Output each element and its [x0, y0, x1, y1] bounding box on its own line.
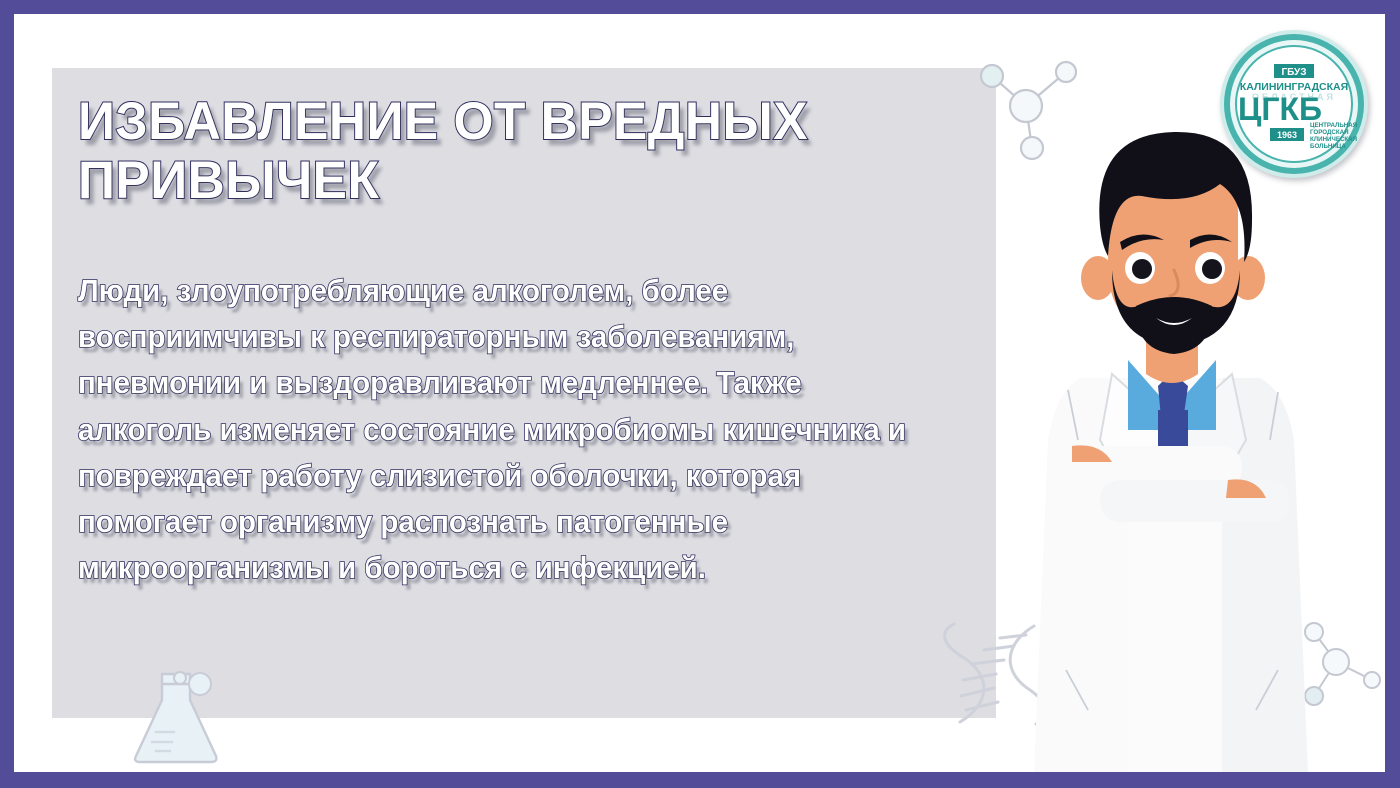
poster-slide: ОБЛАСТНАЯ ГБУЗ КАЛИНИНГРАДСКАЯ ЦГКБ 1963…	[0, 0, 1400, 788]
logo-expansion-4: БОЛЬНИЦА	[1310, 143, 1346, 150]
logo-gbuz: ГБУЗ	[1281, 67, 1306, 78]
logo-expansion-1: ЦЕНТРАЛЬНАЯ	[1310, 122, 1358, 129]
logo-year: 1963	[1277, 130, 1297, 140]
logo-expansion-2: ГОРОДСКАЯ	[1310, 129, 1349, 136]
body-paragraph: Люди, злоупотребляющие алкоголем, более …	[78, 268, 938, 591]
hospital-logo: ОБЛАСТНАЯ ГБУЗ КАЛИНИНГРАДСКАЯ ЦГКБ 1963…	[1218, 28, 1370, 180]
logo-expansion-3: КЛИНИЧЕСКАЯ	[1310, 136, 1358, 143]
doctor-illustration	[960, 110, 1380, 772]
page-title: ИЗБАВЛЕНИЕ ОТ ВРЕДНЫХ ПРИВЫЧЕК	[78, 92, 951, 211]
